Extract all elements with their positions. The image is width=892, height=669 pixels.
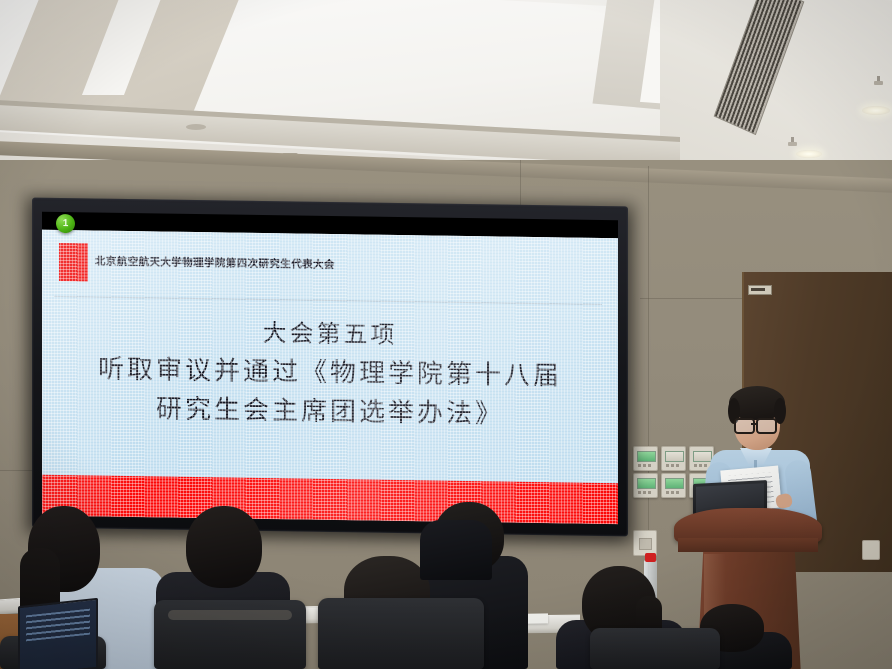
slide-red-accent-block (59, 243, 88, 281)
glasses-icon (734, 418, 755, 434)
recessed-downlight-icon (796, 150, 822, 158)
chair-back[interactable] (318, 598, 484, 669)
presentation-slide: 北京航空航天大学物理学院第四次研究生代表大会 大会第五项 听取审议并通过《物理学… (42, 230, 618, 525)
led-screen-display[interactable]: 1 北京航空航天大学物理学院第四次研究生代表大会 大会第五项 听取审议并通过《物… (42, 212, 618, 525)
hvac-control-panel[interactable] (661, 446, 686, 471)
conference-room-photo: 1 北京航空航天大学物理学院第四次研究生代表大会 大会第五项 听取审议并通过《物… (0, 0, 892, 669)
glasses-bridge-icon (751, 423, 756, 425)
ceiling-slot-vent-icon (186, 124, 206, 130)
wall-panel-seam (648, 166, 649, 586)
slide-main-text: 大会第五项 听取审议并通过《物理学院第十八届 研究生会主席团选举办法》 (42, 318, 618, 430)
chair-back[interactable] (154, 600, 306, 669)
attendee-head (186, 506, 262, 588)
slide-red-footer (42, 475, 618, 525)
podium-top-surface (674, 508, 822, 542)
laptop-screen-content (26, 609, 90, 642)
slide-number-badge[interactable]: 1 (56, 214, 75, 233)
door-nameplate-icon (748, 285, 772, 295)
bottle-cap-icon (645, 553, 656, 562)
chair-back[interactable] (590, 628, 720, 669)
slide-line-2: 听取审议并通过《物理学院第十八届 (42, 356, 618, 391)
podium-lip (678, 538, 818, 552)
attendee-laptop[interactable] (18, 598, 98, 669)
hvac-control-panel[interactable] (633, 473, 658, 498)
sprinkler-head-icon (874, 76, 883, 87)
recessed-downlight-icon (862, 106, 890, 115)
sprinkler-head-icon (788, 137, 797, 148)
glasses-icon (756, 418, 777, 434)
hvac-control-panel[interactable] (633, 446, 658, 471)
attendee-jacket (420, 520, 492, 580)
hvac-control-panel[interactable] (661, 473, 686, 498)
wall-socket-icon (862, 540, 880, 560)
